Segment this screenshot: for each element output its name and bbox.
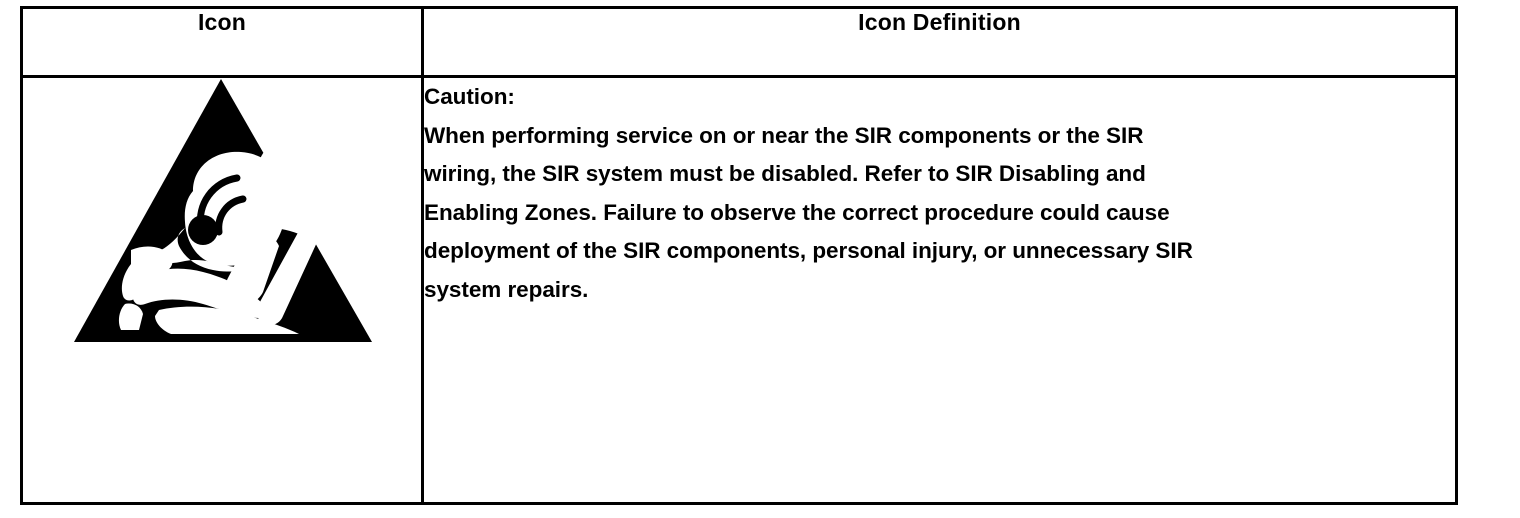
table-header: Icon Icon Definition: [22, 8, 1457, 77]
icon-definition-table: Icon Icon Definition: [20, 6, 1458, 505]
caution-line-2: wiring, the SIR system must be disabled.…: [424, 155, 1384, 194]
caution-heading: Caution:: [424, 78, 1384, 117]
icon-cell: [22, 77, 423, 504]
caution-line-4: deployment of the SIR components, person…: [424, 232, 1384, 271]
column-header-icon: Icon: [22, 8, 423, 77]
table-header-row: Icon Icon Definition: [22, 8, 1457, 77]
document-page: Icon Icon Definition: [0, 0, 1520, 518]
sir-airbag-caution-triangle-icon: [73, 78, 373, 344]
table-row: Caution: When performing service on or n…: [22, 77, 1457, 504]
caution-line-3: Enabling Zones. Failure to observe the c…: [424, 194, 1384, 233]
icon-definition-cell: Caution: When performing service on or n…: [423, 77, 1457, 504]
caution-text-block: Caution: When performing service on or n…: [424, 78, 1384, 309]
table-body: Caution: When performing service on or n…: [22, 77, 1457, 504]
caution-line-1: When performing service on or near the S…: [424, 117, 1384, 156]
caution-line-5: system repairs.: [424, 271, 1384, 310]
column-header-icon-definition: Icon Definition: [423, 8, 1457, 77]
